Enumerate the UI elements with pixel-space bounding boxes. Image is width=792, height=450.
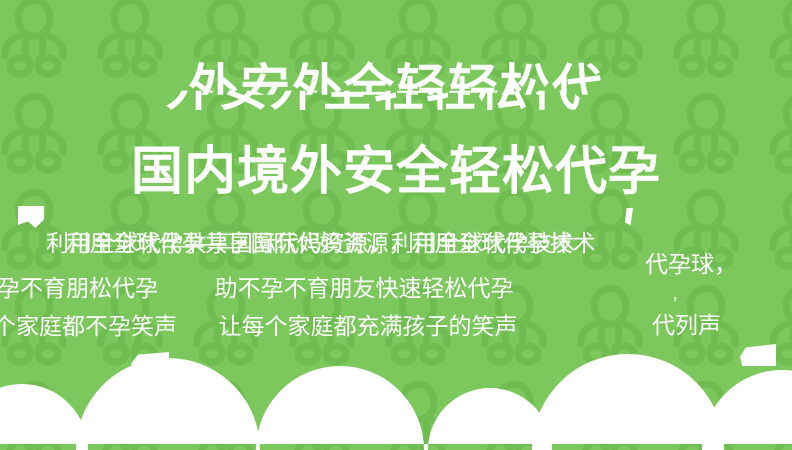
torn-paper-shard-left [18, 206, 44, 228]
body-line-3: 让每个家庭都充满孩子的笑声 [0, 311, 764, 341]
torn-paper-shard-bottom-right [740, 344, 776, 366]
stray-fragment-a: 代孕球， [645, 250, 737, 278]
torn-paper-shard-right [625, 208, 633, 225]
stray-fragment-c: 代列声 [652, 311, 721, 339]
scallop-shape [0, 340, 792, 450]
promo-banner: 外安外全轻轻松代 外安外全轻轻松代 国内境外安全轻松代孕 利用全球代孕共享国际代… [0, 0, 792, 450]
stray-fragment-b: ， [672, 282, 685, 310]
scalloped-cloud-edge [0, 340, 792, 450]
stray-fragment-d: 声 [655, 400, 675, 428]
page-title: 国内境外安全轻松代孕 [0, 143, 792, 201]
body-line-1: 利用全球代孕共享国际代妈资源，利用全球代孕技术 [0, 228, 727, 258]
torn-paper-shard-bottom-left [131, 352, 169, 374]
